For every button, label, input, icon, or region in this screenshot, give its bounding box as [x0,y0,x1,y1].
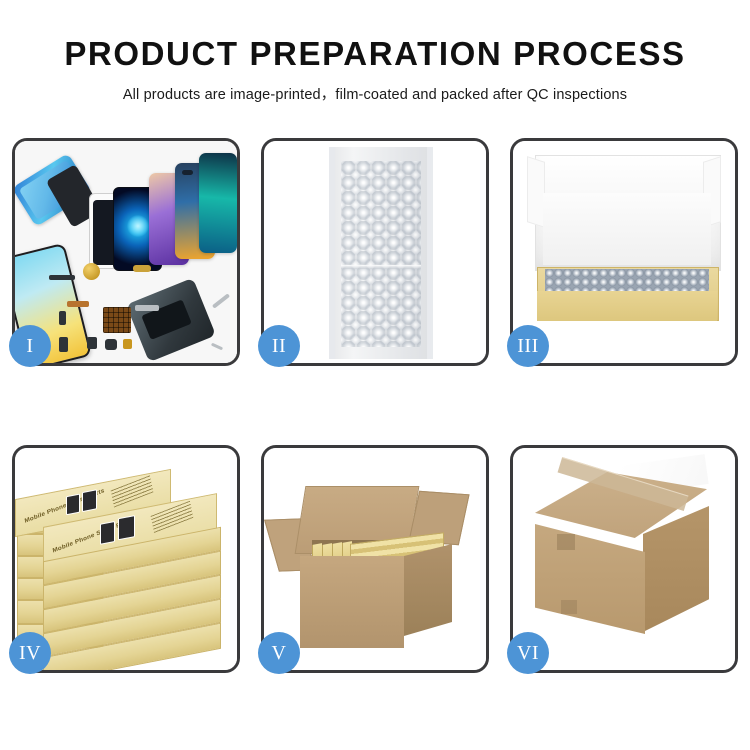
infographic-page: PRODUCT PREPARATION PROCESS All products… [0,0,750,750]
step-panel-iv: Mobile Phone Spare Parts Mobile Phone Sp… [12,445,240,673]
camera-bracket-icon [67,301,89,307]
box-stack-icon: Mobile Phone Spare Parts Mobile Phone Sp… [15,448,237,670]
flex-cable-icon [133,265,151,272]
process-steps-grid: I II III [12,138,738,673]
connector-array-icon [103,307,131,333]
step-panel-vi: VI [510,445,738,673]
step-i-image [15,141,237,363]
step-ii-image [264,141,486,363]
step-panel-ii: II [261,138,489,366]
foam-insert-icon [543,193,711,265]
bubble-pattern-offset [341,161,421,347]
step-badge-vi: VI [507,632,549,674]
step-badge-ii: II [258,325,300,367]
page-title: PRODUCT PREPARATION PROCESS [0,36,750,72]
lid-phone-graphic [100,521,115,545]
speaker-module-icon [105,339,117,350]
carton-front-panel [300,556,404,648]
bubble-wrap-bag-icon [329,147,433,359]
step-iii-image [513,141,735,363]
step-iv-image: Mobile Phone Spare Parts Mobile Phone Sp… [15,448,237,670]
carton-side-panel [404,544,452,636]
lid-spec-lines [111,475,154,507]
lid-phone-graphic [66,494,80,516]
carton-flap-seam-lower [561,600,577,614]
vibrator-motor-icon [87,337,97,349]
step-badge-i: I [9,325,51,367]
speaker-coil-icon [83,263,100,280]
step-badge-v: V [258,632,300,674]
carton-front-panel [535,524,645,634]
lid-spec-lines [151,501,194,533]
small-chip-icon [59,311,66,325]
bag-seam [341,265,421,269]
lid-phone-graphic [118,515,135,540]
page-header: PRODUCT PREPARATION PROCESS All products… [0,0,750,104]
page-subtitle: All products are image-printed，film-coat… [0,83,750,104]
step-badge-iii: III [507,325,549,367]
step-badge-iv: IV [9,632,51,674]
teal-gradient-phone-icon [199,153,237,253]
step-panel-iii: III [510,138,738,366]
step-panel-i: I [12,138,240,366]
metal-shield-icon [135,305,159,311]
step-vi-image [513,448,735,670]
step-v-image [264,448,486,670]
carton-flap-seam-upper [557,534,575,550]
gold-contact-icon [123,339,132,349]
lid-phone-graphic [82,489,97,512]
kraft-tray-front [537,291,717,321]
antenna-strip-icon [49,275,75,280]
step-panel-v: V [261,445,489,673]
sim-tray-icon [59,337,68,352]
